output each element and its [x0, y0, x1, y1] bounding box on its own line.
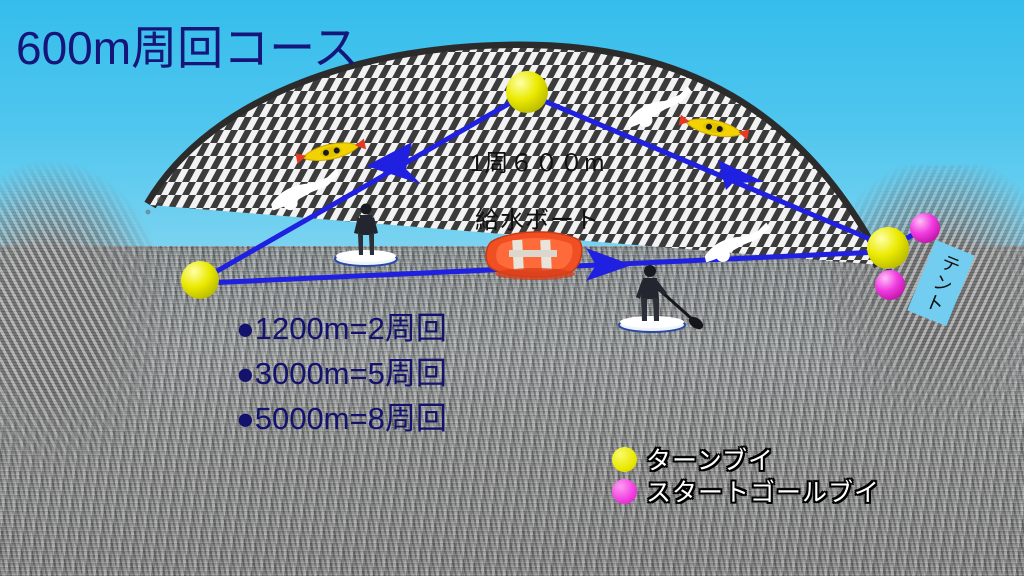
legend: ターンブイ スタートゴールブイ: [612, 443, 880, 507]
distance-list: ●1200m=2周回 ●3000m=5周回 ●5000m=8周回: [236, 306, 447, 441]
start-goal-buoy-swatch: [612, 479, 637, 504]
course-map: 600m周回コース 1周６００m 給水ボート ●1200m=2周回 ●3000m…: [0, 0, 1024, 576]
turn-buoy-swatch: [612, 447, 637, 472]
swimmer-icon: [622, 86, 697, 132]
list-item: ●5000m=8周回: [236, 396, 447, 441]
kayak-icon: [295, 137, 367, 166]
lap-distance-label: 1周６００m: [470, 143, 605, 178]
rescue-raft-icon: [486, 232, 582, 280]
supply-boat-label: 給水ボート: [475, 200, 600, 235]
legend-item-start-goal-buoy: スタートゴールブイ: [612, 475, 880, 507]
sup-paddler-icon: [335, 204, 397, 267]
legend-label: スタートゴールブイ: [646, 473, 880, 509]
list-item: ●3000m=5周回: [236, 351, 447, 396]
list-item: ●1200m=2周回: [236, 306, 447, 351]
legend-label: ターンブイ: [646, 441, 774, 477]
kayak-icon: [678, 113, 750, 142]
swimmer-icon: [267, 168, 345, 214]
legend-item-turn-buoy: ターンブイ: [612, 443, 880, 475]
swimmer-icon: [700, 222, 775, 266]
page-title: 600m周回コース: [16, 12, 359, 78]
sup-paddler-icon: [619, 265, 705, 332]
